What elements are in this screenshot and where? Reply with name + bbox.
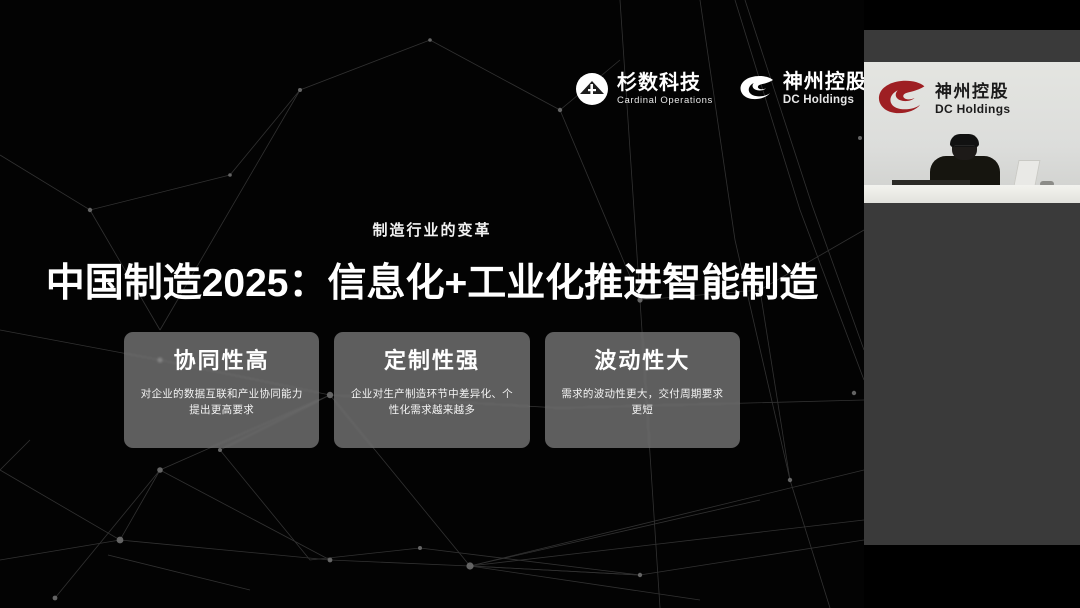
- logo-cardinal-cn: 杉数科技: [617, 73, 713, 93]
- feature-card: 协同性高 对企业的数据互联和产业协同能力提出更高要求: [124, 332, 319, 448]
- feature-card-description: 需求的波动性更大，交付周期要求更短: [557, 386, 728, 419]
- slide-title: 中国制造2025：信息化+工业化推进智能制造: [0, 252, 864, 308]
- dc-holdings-logo-icon: [739, 74, 775, 104]
- feature-card-title: 定制性强: [384, 349, 480, 373]
- logo-cardinal-operations: 杉数科技 Cardinal Operations: [575, 72, 713, 106]
- feature-card: 定制性强 企业对生产制造环节中差异化、个性化需求越来越多: [334, 332, 529, 448]
- backdrop-brand-cn: 神州控股: [935, 83, 1010, 100]
- logo-dc-holdings-en: DC Holdings: [783, 95, 864, 107]
- desk-surface: [864, 185, 1080, 203]
- feature-card-title: 波动性大: [594, 349, 690, 373]
- feature-card-description: 企业对生产制造环节中差异化、个性化需求越来越多: [346, 386, 517, 419]
- presenter-video-feed[interactable]: 神州控股 DC Holdings: [864, 62, 1080, 203]
- feature-card-row: 协同性高 对企业的数据互联和产业协同能力提出更高要求 定制性强 企业对生产制造环…: [124, 332, 740, 448]
- logo-dc-holdings: 神州控股 DC Holdings: [739, 72, 864, 107]
- presenter-glasses: [954, 145, 975, 150]
- video-panel-topbar: [864, 30, 1080, 62]
- feature-card-description: 对企业的数据互联和产业协同能力提出更高要求: [136, 386, 307, 419]
- logo-cardinal-en: Cardinal Operations: [617, 96, 713, 106]
- video-panel-empty-area: [864, 203, 1080, 545]
- dc-holdings-swirl-icon: [876, 78, 928, 120]
- logo-dc-holdings-cn: 神州控股: [783, 72, 864, 92]
- feature-card-title: 协同性高: [174, 349, 270, 373]
- backdrop-brand-en: DC Holdings: [935, 103, 1010, 115]
- backdrop-branding: 神州控股 DC Holdings: [876, 78, 1010, 120]
- slide-subtitle: 制造行业的变革: [0, 219, 864, 240]
- slide-logo-bar: 杉数科技 Cardinal Operations 神州控股 DC Holding…: [575, 72, 864, 107]
- presenter-video-panel[interactable]: 神州控股 DC Holdings: [864, 30, 1080, 545]
- screen-root: 杉数科技 Cardinal Operations 神州控股 DC Holding…: [0, 0, 1080, 608]
- presentation-slide: 杉数科技 Cardinal Operations 神州控股 DC Holding…: [0, 0, 864, 608]
- cardinal-operations-logo-icon: [575, 72, 609, 106]
- feature-card: 波动性大 需求的波动性更大，交付周期要求更短: [545, 332, 740, 448]
